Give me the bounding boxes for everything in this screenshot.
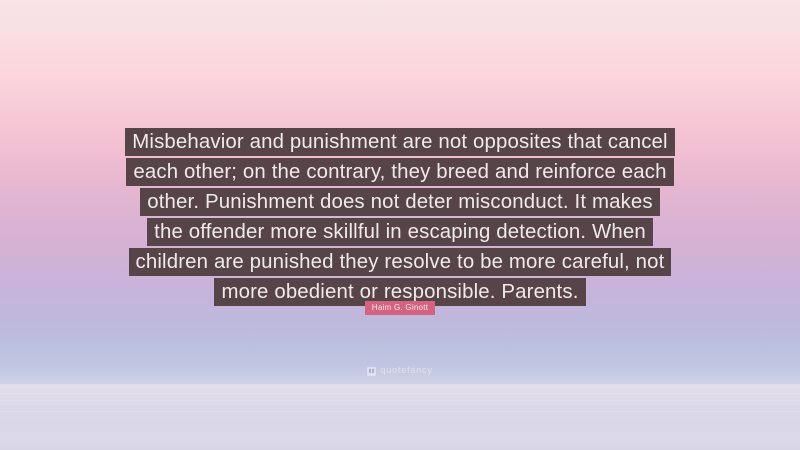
quote-line-row: other. Punishment does not deter miscond… (0, 188, 800, 218)
ground-streak (0, 411, 800, 412)
ground-streak (0, 438, 800, 439)
ground-streak (0, 393, 800, 394)
quote-line: other. Punishment does not deter miscond… (140, 188, 660, 216)
quote-line: the offender more skillful in escaping d… (147, 218, 653, 246)
horizon-haze (0, 330, 800, 385)
quote-mark-icon (367, 367, 376, 376)
quote-line-row: each other; on the contrary, they breed … (0, 158, 800, 188)
quote-line: Misbehavior and punishment are not oppos… (125, 128, 674, 156)
author-name: Haim G. Ginott (365, 301, 435, 315)
ground-streak (0, 425, 800, 426)
quote-line-row: the offender more skillful in escaping d… (0, 218, 800, 248)
quote-line: each other; on the contrary, they breed … (126, 158, 673, 186)
quotefancy-watermark: quotefancy (0, 366, 800, 376)
watermark-label: quotefancy (380, 366, 432, 376)
quote-line: children are punished they resolve to be… (129, 248, 672, 276)
quote-line-row: Misbehavior and punishment are not oppos… (0, 128, 800, 158)
salt-flat-foreground (0, 384, 800, 450)
ground-streak (0, 400, 800, 401)
quote-line-row: children are punished they resolve to be… (0, 248, 800, 278)
quote-text-block: Misbehavior and punishment are not oppos… (0, 128, 800, 308)
author-badge: Haim G. Ginott (0, 301, 800, 315)
quote-poster: Misbehavior and punishment are not oppos… (0, 0, 800, 450)
